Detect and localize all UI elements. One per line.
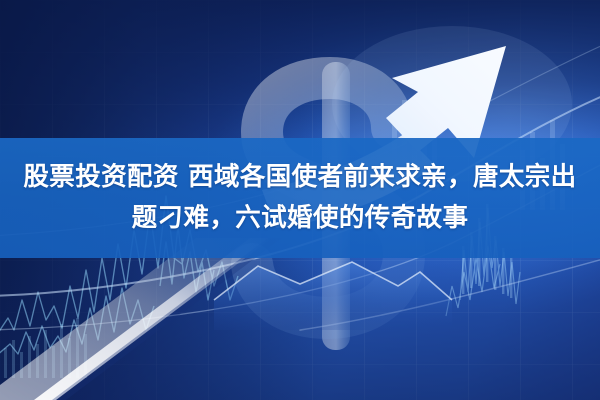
headline-band: 股票投资配资 西域各国使者前来求亲，唐太宗出 题刁难，六试婚使的传奇故事 [0,138,600,258]
headline-line-2: 题刁难，六试婚使的传奇故事 [132,198,469,239]
headline-line-1: 股票投资配资 西域各国使者前来求亲，唐太宗出 [23,157,576,198]
stock-finance-banner: 股票投资配资 西域各国使者前来求亲，唐太宗出 题刁难，六试婚使的传奇故事 [0,0,600,400]
